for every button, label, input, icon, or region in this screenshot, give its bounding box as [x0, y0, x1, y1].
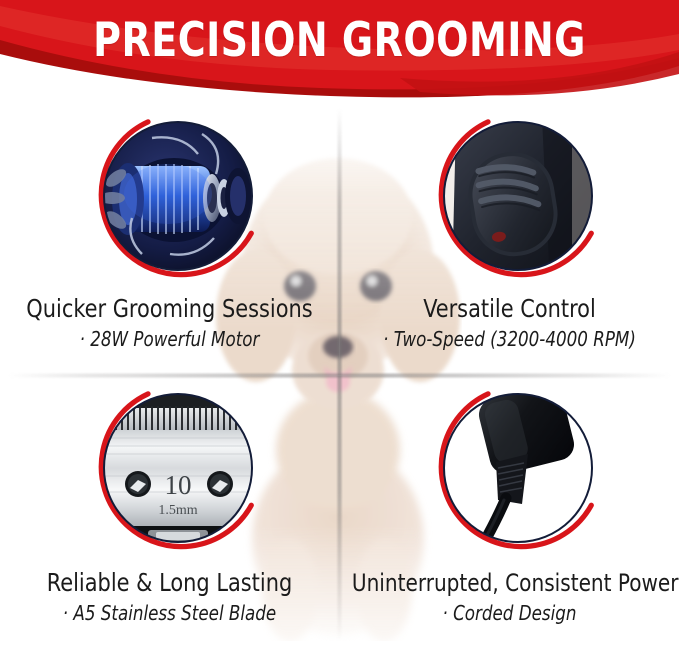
blade-photo: 10 1.5mm — [82, 380, 258, 556]
feature-subtitle: · 28W Powerful Motor — [12, 326, 327, 352]
feature-quadrant-bottom-left: 10 1.5mm Reliable & Long Lasting · A5 St… — [0, 380, 339, 646]
feature-subtitle: · A5 Stainless Steel Blade — [12, 600, 327, 626]
motor-photo — [82, 108, 258, 284]
speed-switch-photo — [422, 108, 598, 284]
power-cord-photo — [422, 380, 598, 556]
feature-title: Versatile Control — [352, 294, 667, 324]
feature-captions: Quicker Grooming Sessions · 28W Powerful… — [0, 294, 339, 352]
feature-subtitle: · Corded Design — [352, 600, 667, 626]
feature-captions: Reliable & Long Lasting · A5 Stainless S… — [0, 568, 339, 626]
feature-quadrant-top-right: Versatile Control · Two-Speed (3200-4000… — [340, 108, 679, 374]
feature-subtitle: · Two-Speed (3200-4000 RPM) — [352, 326, 667, 352]
feature-title: Uninterrupted, Consistent Power — [352, 568, 667, 598]
feature-captions: Uninterrupted, Consistent Power · Corded… — [340, 568, 679, 626]
page-title: PRECISION GROOMING — [34, 14, 645, 68]
header-banner: PRECISION GROOMING — [0, 0, 679, 112]
feature-title: Reliable & Long Lasting — [12, 568, 327, 598]
blade-size-label: 10 — [164, 470, 191, 500]
feature-quadrant-bottom-right: Uninterrupted, Consistent Power · Corded… — [340, 380, 679, 646]
feature-title: Quicker Grooming Sessions — [12, 294, 327, 324]
blade-length-label: 1.5mm — [158, 503, 197, 518]
infographic-canvas: Quicker Grooming Sessions · 28W Powerful… — [0, 0, 679, 641]
feature-quadrant-top-left: Quicker Grooming Sessions · 28W Powerful… — [0, 108, 339, 374]
feature-captions: Versatile Control · Two-Speed (3200-4000… — [340, 294, 679, 352]
